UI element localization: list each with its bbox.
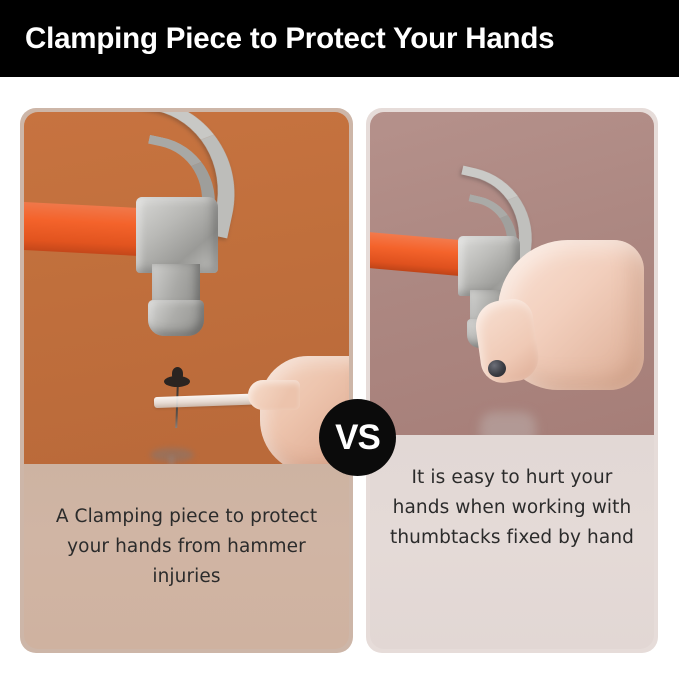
- left-comparison-panel[interactable]: A Clamping piece to protect your hands f…: [24, 112, 349, 649]
- right-panel-photo: [370, 112, 654, 435]
- left-panel-caption: A Clamping piece to protect your hands f…: [24, 464, 349, 649]
- vs-badge: VS: [319, 399, 396, 476]
- page-title: Clamping Piece to Protect Your Hands: [25, 22, 554, 56]
- hammer-head-icon: [136, 197, 218, 273]
- thumbtack-icon: [488, 360, 506, 377]
- vs-badge-label: VS: [335, 420, 380, 455]
- header-banner: Clamping Piece to Protect Your Hands: [0, 0, 679, 77]
- right-panel-caption: It is easy to hurt your hands when worki…: [370, 435, 654, 649]
- background-blur-object-icon: [480, 412, 536, 435]
- right-comparison-panel[interactable]: It is easy to hurt your hands when worki…: [370, 112, 654, 649]
- background-blur-pin-icon: [169, 456, 174, 464]
- left-caption-text: A Clamping piece to protect your hands f…: [52, 502, 322, 592]
- left-panel-photo: [24, 112, 349, 464]
- thumbtack-knob-icon: [172, 367, 183, 380]
- comparison-area: A Clamping piece to protect your hands f…: [0, 77, 679, 634]
- thumb-icon: [473, 296, 542, 385]
- hammer-face-icon: [148, 300, 204, 336]
- finger-icon: [248, 380, 300, 410]
- right-caption-text: It is easy to hurt your hands when worki…: [387, 463, 637, 553]
